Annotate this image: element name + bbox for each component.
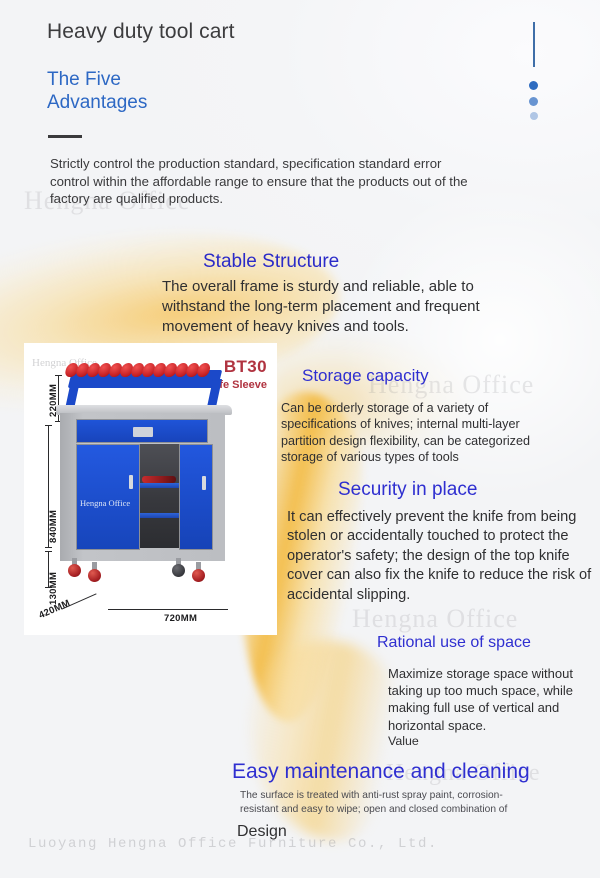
page-title: Heavy duty tool cart xyxy=(47,20,235,44)
cart-door-brand: Hengna Office xyxy=(80,498,130,508)
advantage-heading-rational-use-of-space: Rational use of space xyxy=(377,634,531,652)
caster-wheel xyxy=(172,564,185,577)
title-divider xyxy=(48,135,82,138)
product-infographic: Hengna Office Hengna Office Hengna Offic… xyxy=(0,0,600,878)
advantage-body-storage-capacity: Can be orderly storage of a variety of s… xyxy=(281,400,543,466)
cart-door-right xyxy=(179,444,213,550)
advantage-heading-storage-capacity: Storage capacity xyxy=(302,366,429,386)
dimension-guide-line xyxy=(108,609,228,610)
caster-wheel xyxy=(68,564,81,577)
decorative-dot xyxy=(530,112,538,120)
section-label-line2: Advantages xyxy=(47,91,197,114)
advantage-body-easy-maintenance: The surface is treated with anti-rust sp… xyxy=(240,789,530,816)
advantage-body-security-in-place: It can effectively prevent the knife fro… xyxy=(287,508,599,605)
advantage-body-stable-structure: The overall frame is sturdy and reliable… xyxy=(162,277,514,337)
decorative-dot xyxy=(529,97,538,106)
door-handle xyxy=(202,476,206,490)
drawer-logo-plate xyxy=(133,427,153,437)
dimension-label-base-height: 130MM xyxy=(48,572,59,605)
dimension-tick xyxy=(55,375,62,376)
cart-door-left xyxy=(76,444,140,550)
dimension-label-cabinet-height: 840MM xyxy=(48,510,59,543)
product-photo-inner: Hengna Office BT30 31 Knife Sleeve 220MM… xyxy=(24,343,277,635)
advantage-heading-easy-maintenance: Easy maintenance and cleaning xyxy=(232,760,530,784)
advantage-heading-security-in-place: Security in place xyxy=(338,479,477,501)
cart-drawer xyxy=(76,419,208,443)
advantage-body-rational-use-of-space: Maximize storage space without taking up… xyxy=(388,665,586,734)
advantage-heading-stable-structure: Stable Structure xyxy=(203,251,339,273)
cart-shelf xyxy=(138,513,180,518)
section-label-line1: The Five xyxy=(47,68,197,91)
dimension-tick xyxy=(45,547,52,548)
stored-tools xyxy=(142,476,176,483)
advantage-extra-value: Value xyxy=(388,734,419,748)
dimension-label-width: 720MM xyxy=(164,613,197,624)
decorative-rail xyxy=(533,22,535,67)
dimension-tick xyxy=(45,425,52,426)
dimension-tick xyxy=(45,551,52,552)
product-photo: Hengna Office BT30 31 Knife Sleeve 220MM… xyxy=(24,343,277,635)
knife-sleeve-row xyxy=(64,361,228,377)
watermark-text: Hengna Office xyxy=(352,604,518,634)
product-model-label: BT30 xyxy=(224,357,267,377)
cart-open-cavity xyxy=(138,444,180,548)
section-label: The Five Advantages xyxy=(47,68,197,114)
intro-paragraph: Strictly control the production standard… xyxy=(50,155,470,208)
footer-watermark: Luoyang Hengna Office Furniture Co., Ltd… xyxy=(28,836,438,852)
door-handle xyxy=(129,475,133,489)
caster-wheel xyxy=(88,569,101,582)
caster-wheel xyxy=(192,569,205,582)
cart-shelf xyxy=(138,483,180,488)
advantage-extra-design: Design xyxy=(237,823,287,841)
decorative-dot xyxy=(529,81,538,90)
